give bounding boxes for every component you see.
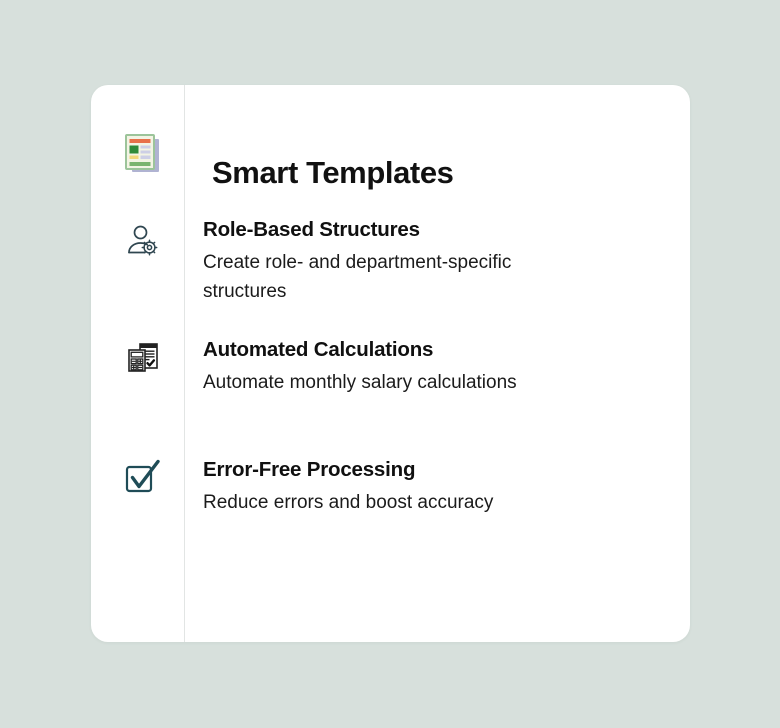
feature-description: Automate monthly salary calculations [203, 368, 595, 397]
page-canvas: Smart Templates Role-Based Structures Cr… [0, 0, 780, 728]
feature-description: Create role- and department-specific str… [203, 248, 595, 306]
page-title: Smart Templates [212, 154, 454, 192]
feature-title: Automated Calculations [203, 337, 643, 363]
smart-templates-card: Smart Templates Role-Based Structures Cr… [91, 85, 690, 642]
document-template-icon [121, 132, 165, 176]
content-column: Smart Templates Role-Based Structures Cr… [185, 85, 690, 642]
calculator-checklist-icon [121, 336, 165, 380]
feature-item-role-based-structures: Role-Based Structures Create role- and d… [203, 217, 643, 306]
feature-title: Error-Free Processing [203, 457, 643, 483]
feature-item-error-free-processing: Error-Free Processing Reduce errors and … [203, 457, 643, 517]
feature-description: Reduce errors and boost accuracy [203, 488, 595, 517]
user-settings-icon [121, 219, 165, 263]
feature-item-automated-calculations: Automated Calculations Automate monthly … [203, 337, 643, 397]
checkbox-check-icon [121, 454, 165, 498]
icon-rail [91, 85, 185, 642]
feature-title: Role-Based Structures [203, 217, 643, 243]
